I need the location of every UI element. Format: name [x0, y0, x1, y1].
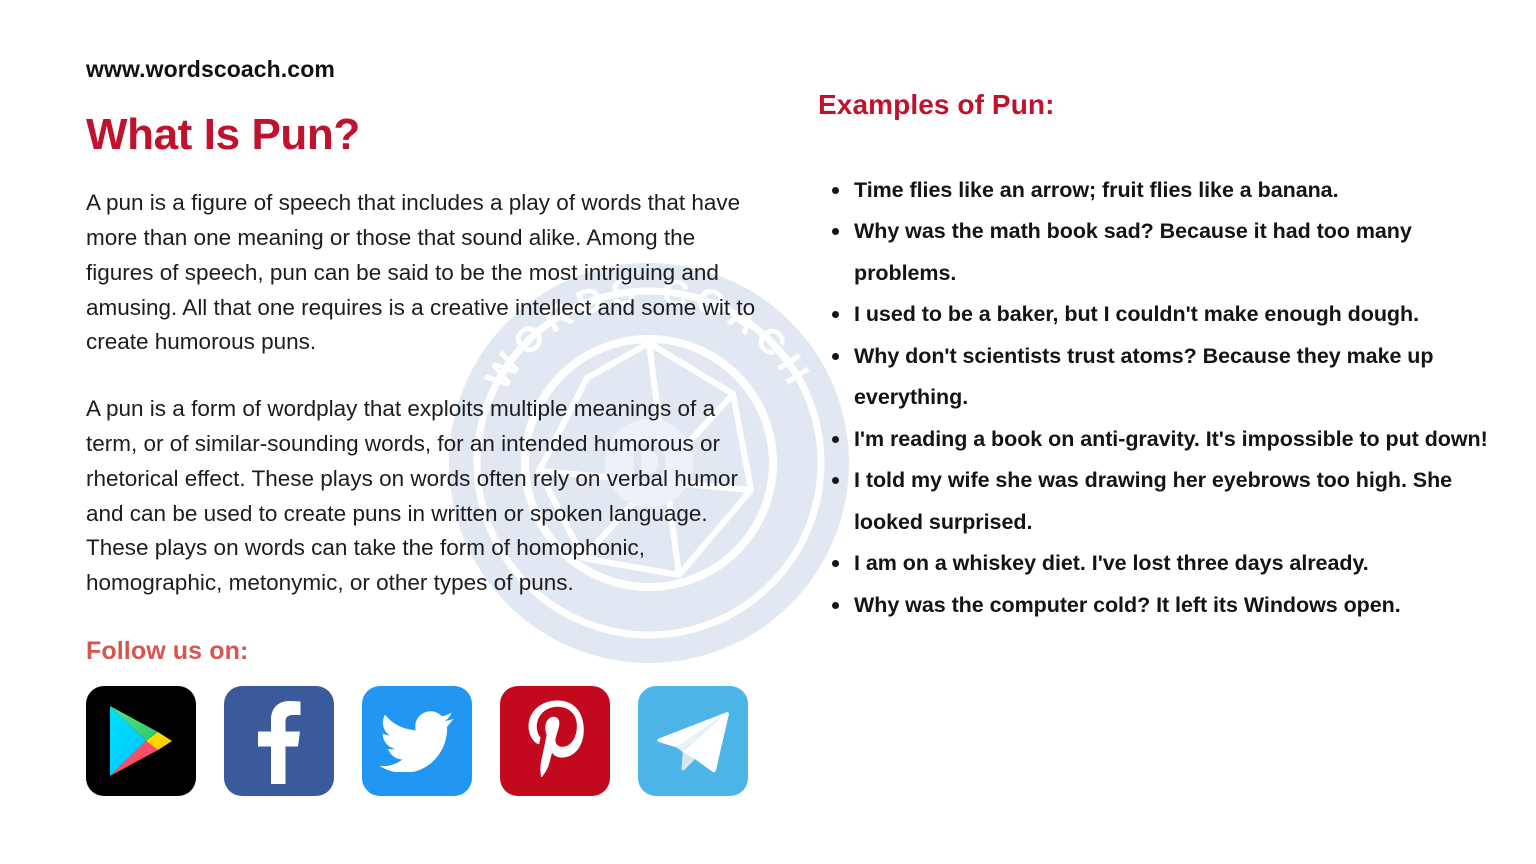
- examples-list: Time flies like an arrow; fruit flies li…: [818, 170, 1508, 627]
- telegram-button[interactable]: [638, 686, 748, 796]
- site-url: www.wordscoach.com: [86, 56, 776, 84]
- facebook-button[interactable]: [224, 686, 334, 796]
- list-item: I used to be a baker, but I couldn't mak…: [854, 294, 1508, 336]
- pinterest-icon: [524, 699, 586, 783]
- telegram-paper-plane-icon: [656, 709, 730, 773]
- list-item: Why was the math book sad? Because it ha…: [854, 211, 1508, 294]
- page-title: What Is Pun?: [86, 110, 776, 161]
- list-item: I'm reading a book on anti-gravity. It's…: [854, 419, 1508, 461]
- pinterest-button[interactable]: [500, 686, 610, 796]
- list-item: I told my wife she was drawing her eyebr…: [854, 460, 1508, 543]
- description-paragraph-2: A pun is a form of wordplay that exploit…: [86, 392, 758, 601]
- right-column: Examples of Pun: Time flies like an arro…: [818, 88, 1508, 626]
- facebook-icon: [255, 698, 303, 784]
- list-item: Why was the computer cold? It left its W…: [854, 585, 1508, 627]
- examples-heading: Examples of Pun:: [818, 88, 1508, 122]
- follow-us-label: Follow us on:: [86, 637, 776, 666]
- twitter-button[interactable]: [362, 686, 472, 796]
- list-item: Why don't scientists trust atoms? Becaus…: [854, 336, 1508, 419]
- google-play-button[interactable]: [86, 686, 196, 796]
- left-column: www.wordscoach.com What Is Pun? A pun is…: [86, 56, 776, 796]
- twitter-bird-icon: [380, 710, 454, 772]
- description-paragraph-1: A pun is a figure of speech that include…: [86, 186, 758, 360]
- social-links-row: [86, 686, 776, 796]
- list-item: I am on a whiskey diet. I've lost three …: [854, 543, 1508, 585]
- google-play-icon: [106, 703, 176, 779]
- infographic-page: D WORDS COACH www.wordscoach.com What Is…: [0, 0, 1536, 864]
- list-item: Time flies like an arrow; fruit flies li…: [854, 170, 1508, 212]
